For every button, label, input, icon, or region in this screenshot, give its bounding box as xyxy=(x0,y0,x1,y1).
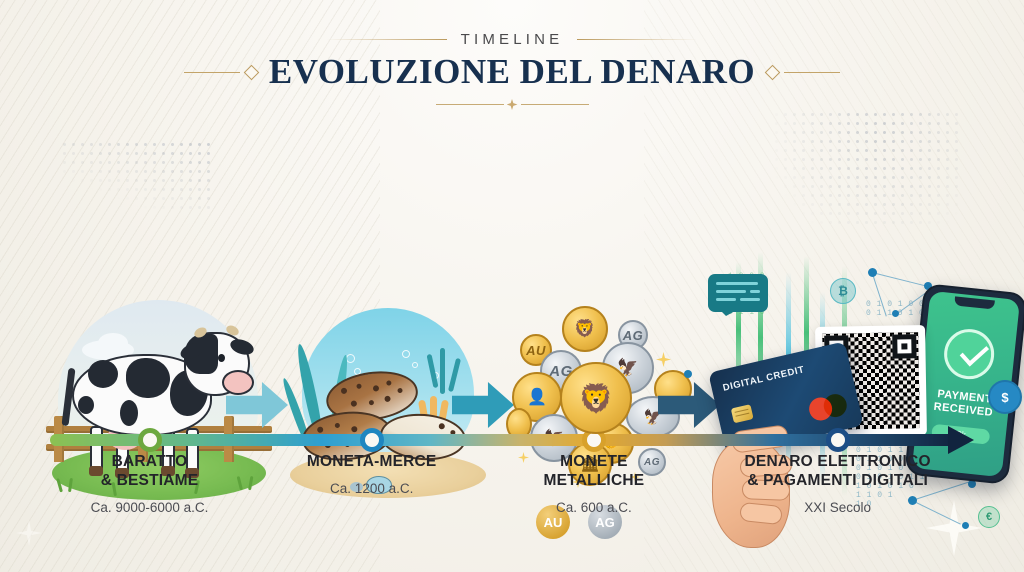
diamond-icon xyxy=(244,64,260,80)
chat-bubble-icon xyxy=(708,274,768,312)
kicker-label: TIMELINE xyxy=(461,31,564,48)
cow-eye xyxy=(218,354,225,362)
timeline-labels: BARATTO & BESTIAMECa. 9000-6000 a.C.MONE… xyxy=(0,452,1024,562)
step-date: Ca. 600 a.C. xyxy=(544,500,645,515)
timeline-arrowhead xyxy=(948,426,974,454)
cow-muzzle xyxy=(222,370,254,395)
timeline-step-monete-metalliche: MONETE METALLICHECa. 600 a.C. xyxy=(544,452,645,515)
dollar-token-icon: $ xyxy=(988,380,1022,414)
step-date: Ca. 9000-6000 a.C. xyxy=(91,500,209,515)
kicker-rule-left xyxy=(327,39,447,40)
infographic-canvas: TIMELINE EVOLUZIONE DEL DENARO xyxy=(0,0,1024,572)
page-title: EVOLUZIONE DEL DENARO xyxy=(269,52,755,92)
step-title: MONETE METALLICHE xyxy=(544,452,645,490)
timeline-step-moneta-merce: MONETA-MERCECa. 1200 a.C. xyxy=(307,452,437,496)
ornament-right xyxy=(767,67,840,78)
diamond-icon xyxy=(507,99,518,110)
ornament-line xyxy=(521,104,589,105)
ornament-line xyxy=(784,72,840,73)
bitcoin-token-icon: ₿ xyxy=(830,278,856,304)
coin-lion-top: 🦁 xyxy=(562,306,608,352)
phone-notch xyxy=(954,296,995,309)
diamond-icon xyxy=(765,64,781,80)
kicker-row: TIMELINE xyxy=(0,31,1024,48)
illustration-row: AU AG 🦁 AG 🦅 👤 🦅 🦅 🤝 🏛 AG 🦁 AU AG xyxy=(0,120,1024,420)
step-title: BARATTO & BESTIAME xyxy=(91,452,209,490)
timeline-dot-moneta-merce[interactable] xyxy=(360,428,384,452)
coin-glyph: AG xyxy=(623,328,644,343)
step-date: XXI Secolo xyxy=(745,500,931,515)
timeline-dot-denaro-elettronico[interactable] xyxy=(826,428,850,452)
timeline-bar xyxy=(50,434,955,446)
step-title: MONETA-MERCE xyxy=(307,452,437,471)
coral xyxy=(440,348,445,394)
kicker-rule-right xyxy=(577,39,697,40)
contactless-icon xyxy=(757,398,776,417)
coin-lion-main: 🦁 xyxy=(560,362,632,434)
timeline-step-denaro-elettronico: DENARO ELETTRONICO & PAGAMENTI DIGITALIX… xyxy=(745,452,931,515)
title-underline-ornament xyxy=(0,99,1024,110)
timeline-step-baratto: BARATTO & BESTIAMECa. 9000-6000 a.C. xyxy=(91,452,209,515)
coin-glyph: AU xyxy=(526,343,546,358)
card-network-logo xyxy=(807,392,849,423)
ornament-line xyxy=(184,72,240,73)
ornament-line xyxy=(436,104,504,105)
step-title: DENARO ELETTRONICO & PAGAMENTI DIGITALI xyxy=(745,452,931,490)
card-label: DIGITAL CREDIT xyxy=(722,364,806,394)
ornament-left xyxy=(184,67,257,78)
step-date: Ca. 1200 a.C. xyxy=(307,481,437,496)
title-row: EVOLUZIONE DEL DENARO xyxy=(0,52,1024,92)
success-check-icon xyxy=(942,327,997,382)
timeline-dot-baratto[interactable] xyxy=(138,428,162,452)
